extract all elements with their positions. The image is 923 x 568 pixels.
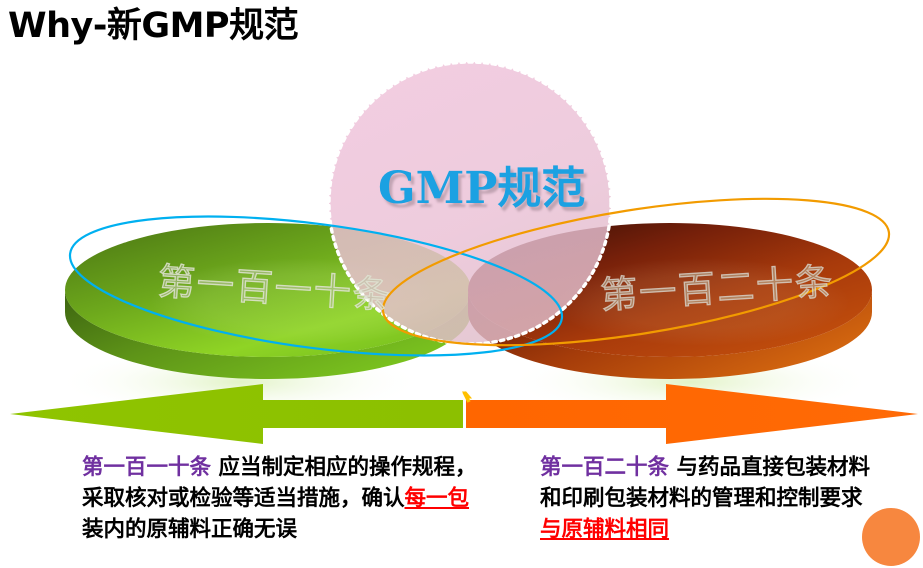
- left-note-text-2: 装内的原辅料正确无误: [82, 517, 297, 542]
- slide-canvas: Why-新GMP规范: [0, 0, 923, 568]
- right-note-block: 第一百二十条 与药品直接包装材料和印刷包装材料的管理和控制要求与原辅料相同: [540, 452, 870, 545]
- left-note-block: 第一百一十条 应当制定相应的操作规程，采取核对或检验等适当措施，确认每一包装内的…: [82, 452, 482, 545]
- corner-orange-dot: [862, 508, 920, 566]
- left-clause-number: 第一百一十条: [82, 455, 211, 480]
- left-note-highlight: 每一包: [405, 486, 470, 511]
- arrow-divider-line: [464, 392, 469, 402]
- gmp-center-label: GMP规范: [378, 152, 585, 216]
- right-clause-number: 第一百二十条: [540, 455, 669, 480]
- right-note-highlight: 与原辅料相同: [540, 517, 669, 542]
